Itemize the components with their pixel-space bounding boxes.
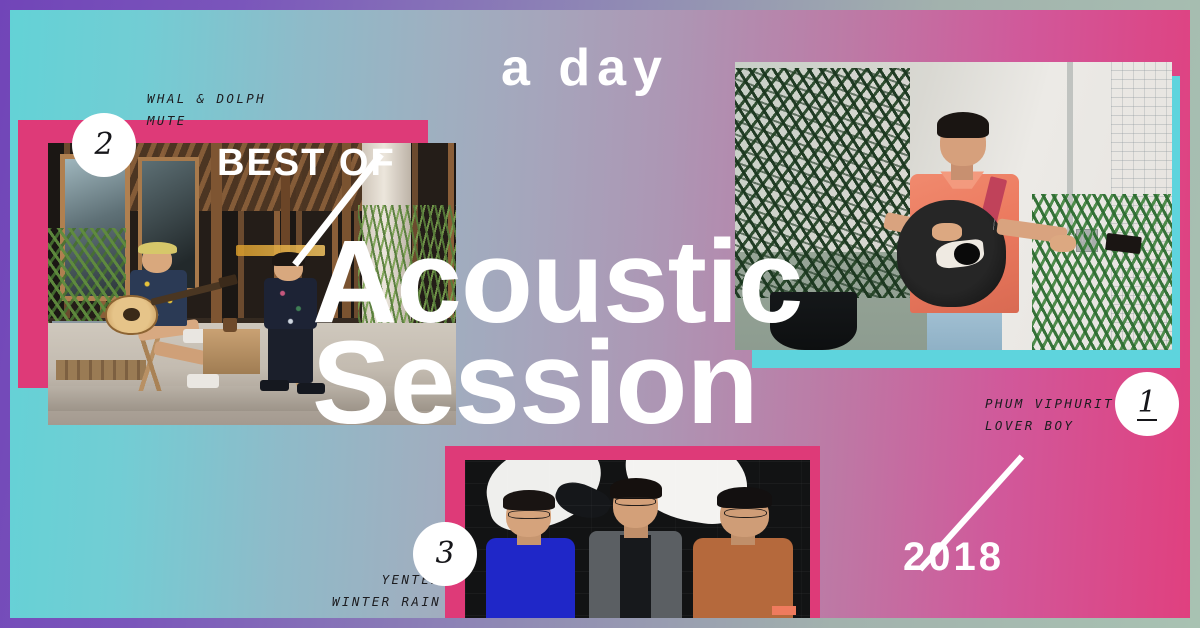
poster-canvas: a day BEST OF Acoustic Session 2018 WHAL… bbox=[0, 0, 1200, 628]
page-title-line-2: Session bbox=[312, 333, 802, 434]
coffee-cup bbox=[223, 318, 237, 332]
musician-left-shoe-2 bbox=[187, 374, 220, 388]
band-member-1-hair bbox=[503, 490, 555, 510]
page-title: Acoustic Session bbox=[312, 232, 802, 435]
band-member-2-hair bbox=[610, 478, 662, 499]
band-member-3-glasses-icon bbox=[724, 508, 767, 518]
caption-track: MUTE bbox=[147, 110, 266, 132]
band-member-2-black-shirt bbox=[620, 535, 651, 618]
palm-plant-right bbox=[1032, 194, 1172, 350]
caption-whal-and-dolph: WHAL & DOLPH MUTE bbox=[147, 88, 266, 132]
caption-track: LOVER BOY bbox=[985, 415, 1114, 437]
band-member-2-glasses-icon bbox=[615, 497, 656, 506]
rank-badge-1-number: 1 bbox=[1137, 388, 1156, 421]
caption-track: WINTER RAIN bbox=[332, 591, 441, 613]
wood-side-table bbox=[203, 329, 260, 374]
rank-badge-3-number: 3 bbox=[435, 539, 454, 569]
photo-yented bbox=[465, 460, 810, 618]
rank-badge-3: 3 bbox=[413, 522, 477, 586]
acoustic-guitar-soundhole bbox=[123, 308, 139, 321]
musician-right-legs bbox=[268, 326, 313, 382]
band-member-3-sleeve-cuff bbox=[772, 606, 796, 615]
caption-phum-viphurit: PHUM VIPHURIT LOVER BOY bbox=[985, 393, 1114, 437]
band-member-3-hair bbox=[717, 487, 772, 508]
band-member-1-blue-tee bbox=[486, 538, 576, 618]
rank-badge-1: 1 bbox=[1115, 372, 1179, 436]
musician-right-torso bbox=[264, 278, 317, 329]
caption-artist: WHAL & DOLPH bbox=[147, 88, 266, 110]
musician-hair bbox=[937, 112, 989, 138]
rank-badge-2: 2 bbox=[72, 113, 136, 177]
musician-fretting-hand bbox=[1050, 235, 1076, 252]
band-member-1-glasses-icon bbox=[508, 510, 549, 519]
musician-right-shoe bbox=[260, 380, 289, 391]
kicker-line-1: BEST bbox=[217, 142, 326, 184]
rank-badge-2-number: 2 bbox=[94, 130, 113, 160]
caption-artist: PHUM VIPHURIT bbox=[985, 393, 1114, 415]
brand-logo: a day bbox=[501, 42, 669, 94]
kicker-line-2: OF bbox=[339, 142, 396, 184]
acoustic-guitar-soundhole bbox=[954, 243, 980, 265]
musician-left-cap bbox=[138, 242, 177, 255]
poster-inner-gradient: a day BEST OF Acoustic Session 2018 WHAL… bbox=[10, 10, 1190, 618]
year-label: 2018 bbox=[903, 537, 1004, 577]
musician-strumming-hand bbox=[932, 223, 963, 240]
